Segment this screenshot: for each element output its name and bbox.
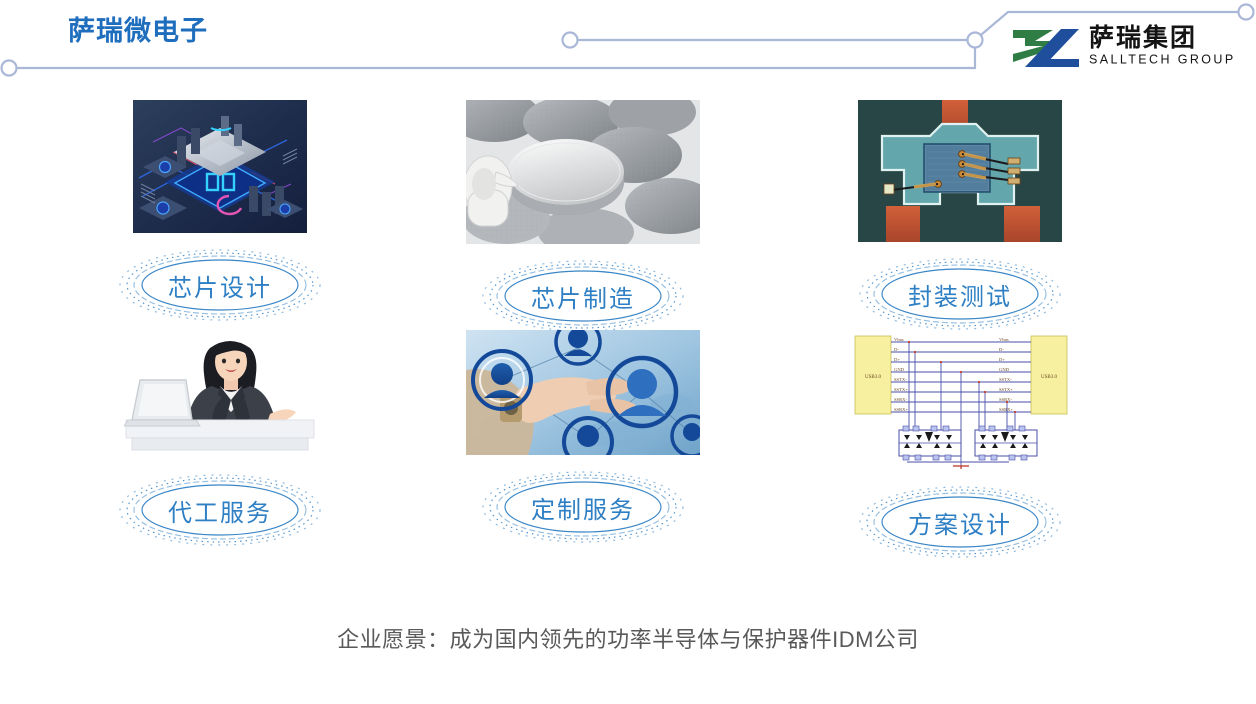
- svg-text:D+: D+: [894, 357, 900, 362]
- salltech-sz-mark-icon: [1009, 24, 1081, 68]
- circle-node-icon: [968, 33, 983, 48]
- svg-text:D-: D-: [999, 347, 1004, 352]
- service-label: 芯片设计: [168, 268, 272, 303]
- circle-node-icon: [1239, 5, 1254, 20]
- circle-node-icon: [2, 61, 17, 76]
- service-label-badge: 方案设计: [850, 484, 1070, 560]
- service-label-badge: 定制服务: [473, 469, 693, 545]
- svg-text:SSTX+: SSTX+: [894, 387, 908, 392]
- svg-text:Vbus: Vbus: [999, 337, 1009, 342]
- service-label-badge: 芯片设计: [110, 247, 330, 323]
- logo-name-cn: 萨瑞集团: [1089, 26, 1236, 51]
- service-card[interactable]: 定制服务: [413, 330, 753, 545]
- vision-caption: 企业愿景：成为国内领先的功率半导体与保护器件IDM公司: [0, 622, 1256, 654]
- svg-text:SSTX-: SSTX-: [999, 377, 1012, 382]
- foundry-service-image: [124, 330, 316, 458]
- service-label: 代工服务: [168, 493, 272, 528]
- usb3-schematic-diagram: USB3.0 USB3.0 Vbus D- D+ GND SSTX- SSTX+…: [849, 330, 1071, 470]
- logo-wordmark: 萨瑞集团 SALLTECH GROUP: [1089, 26, 1236, 66]
- svg-text:D+: D+: [999, 357, 1005, 362]
- page-title: 萨瑞微电子: [68, 15, 208, 47]
- svg-text:Vbus: Vbus: [894, 337, 904, 342]
- svg-text:GND: GND: [999, 367, 1010, 372]
- chip-design-image: [133, 100, 307, 233]
- service-card[interactable]: 封装测试: [790, 100, 1130, 332]
- svg-text:SSRX-: SSRX-: [894, 397, 907, 402]
- service-label: 芯片制造: [531, 279, 635, 314]
- service-card[interactable]: USB3.0 USB3.0 Vbus D- D+ GND SSTX- SSTX+…: [790, 330, 1130, 560]
- service-card[interactable]: 代工服务: [50, 330, 390, 548]
- service-label-badge: 芯片制造: [473, 258, 693, 334]
- schematic-connector-left: USB3.0: [865, 375, 881, 380]
- service-label: 方案设计: [908, 505, 1012, 540]
- svg-text:GND: GND: [894, 367, 905, 372]
- logo-name-en: SALLTECH GROUP: [1089, 53, 1236, 66]
- solution-design-image: USB3.0 USB3.0 Vbus D- D+ GND SSTX- SSTX+…: [849, 330, 1071, 470]
- custom-service-image: [466, 330, 700, 455]
- service-label: 定制服务: [531, 490, 635, 525]
- service-card[interactable]: 芯片设计: [50, 100, 390, 323]
- schematic-connector-right: USB3.0: [1041, 375, 1057, 380]
- service-label-badge: 代工服务: [110, 472, 330, 548]
- circle-node-icon: [563, 33, 578, 48]
- slide-header: 萨瑞微电子 萨瑞集团 SALLTECH GROUP: [0, 0, 1256, 92]
- svg-text:D-: D-: [894, 347, 899, 352]
- service-card-grid: 芯片设计: [0, 100, 1256, 580]
- service-card[interactable]: 芯片制造: [413, 100, 753, 334]
- svg-text:SSRX+: SSRX+: [894, 407, 908, 412]
- svg-text:SSRX-: SSRX-: [999, 397, 1012, 402]
- service-label-badge: 封装测试: [850, 256, 1070, 332]
- wafer-manufacturing-image: [466, 100, 700, 244]
- svg-text:SSRX+: SSRX+: [999, 407, 1013, 412]
- svg-text:SSTX-: SSTX-: [894, 377, 907, 382]
- company-logo: 萨瑞集团 SALLTECH GROUP: [1009, 20, 1249, 72]
- packaging-testing-image: [858, 100, 1062, 242]
- svg-text:SSTX+: SSTX+: [999, 387, 1013, 392]
- service-label: 封装测试: [908, 277, 1012, 312]
